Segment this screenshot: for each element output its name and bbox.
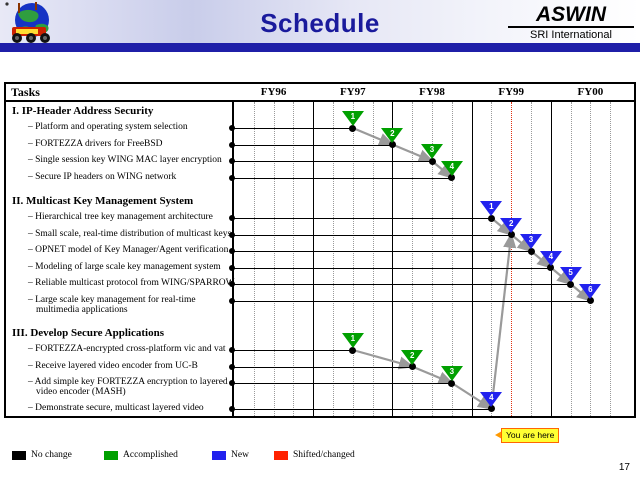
slide-header: Schedule ASWIN SRI International (0, 0, 640, 52)
milestone-marker-accomplished[interactable]: 1 (342, 333, 364, 348)
milestone-marker-accomplished[interactable]: 4 (441, 161, 463, 176)
legend-swatch (274, 451, 288, 460)
milestone-marker-accomplished[interactable]: 3 (441, 366, 463, 381)
legend-swatch (212, 451, 226, 460)
task-leader-line (233, 235, 511, 236)
milestone-marker-new[interactable]: 6 (579, 284, 601, 299)
you-are-here-callout: You are here (501, 428, 559, 443)
legend-label: Shifted/changed (293, 450, 355, 460)
milestone-marker-accomplished[interactable]: 1 (342, 111, 364, 126)
milestone-marker-accomplished[interactable]: 3 (421, 144, 443, 159)
globe-rover-icon (4, 1, 58, 45)
milestone-marker-accomplished[interactable]: 2 (401, 350, 423, 365)
milestone-number: 3 (421, 144, 443, 155)
milestone-number: 4 (441, 161, 463, 172)
milestone-number: 1 (342, 333, 364, 344)
milestone-number: 2 (500, 218, 522, 229)
page-number: 17 (619, 462, 630, 473)
task-leader-line (233, 145, 392, 146)
brand-subtitle: SRI International (508, 28, 634, 42)
fy-column-header-fy97: FY97 (316, 86, 390, 98)
legend-item-no-change: No change (12, 446, 72, 460)
fy-column-header-fy98: FY98 (395, 86, 469, 98)
fy-column-header-fy96: FY96 (237, 86, 311, 98)
chart-header-row: Tasks FY96FY97FY98FY99FY00 (6, 84, 634, 102)
milestone-marker-new[interactable]: 3 (520, 234, 542, 249)
task-leader-line (233, 350, 353, 351)
legend-item-new: New (212, 446, 249, 460)
milestone-marker-accomplished[interactable]: 2 (381, 128, 403, 143)
fy-column-header-fy99: FY99 (474, 86, 548, 98)
legend-label: New (231, 450, 249, 460)
slide: Schedule ASWIN SRI International (0, 0, 640, 480)
milestone-number: 2 (401, 350, 423, 361)
task-leader-line (233, 251, 531, 252)
milestone-marker-new[interactable]: 2 (500, 218, 522, 233)
milestone-number: 2 (381, 128, 403, 139)
task-leader-line (233, 367, 412, 368)
legend-swatch (104, 451, 118, 460)
milestone-number: 3 (441, 366, 463, 377)
task-leader-line (233, 128, 353, 129)
milestone-number: 4 (480, 392, 502, 403)
task-leader-line (233, 268, 551, 269)
legend-swatch (12, 451, 26, 460)
task-leader-line (233, 301, 590, 302)
milestone-number: 1 (342, 111, 364, 122)
tasks-column-header: Tasks (11, 85, 40, 100)
legend: No changeAccomplishedNewShifted/changed (12, 446, 412, 462)
milestone-marker-new[interactable]: 4 (480, 392, 502, 407)
header-rule (0, 43, 640, 52)
fy-column-header-fy00: FY00 (553, 86, 627, 98)
aswin-logo: ASWIN SRI International (508, 4, 634, 42)
legend-item-shifted-changed: Shifted/changed (274, 446, 355, 460)
legend-label: Accomplished (123, 450, 178, 460)
brand-name: ASWIN (508, 4, 634, 28)
milestone-number: 4 (540, 251, 562, 262)
milestone-layer: 12341234561234 (6, 102, 634, 416)
milestone-marker-new[interactable]: 4 (540, 251, 562, 266)
task-leader-line (233, 218, 491, 219)
milestone-number: 1 (480, 201, 502, 212)
milestone-number: 3 (520, 234, 542, 245)
milestone-marker-new[interactable]: 1 (480, 201, 502, 216)
milestone-marker-new[interactable]: 5 (560, 267, 582, 282)
task-leader-line (233, 178, 452, 179)
milestone-number: 5 (560, 267, 582, 278)
task-leader-line (233, 383, 452, 384)
task-leader-line (233, 161, 432, 162)
legend-label: No change (31, 450, 72, 460)
task-leader-line (233, 409, 491, 410)
legend-item-accomplished: Accomplished (104, 446, 178, 460)
milestone-number: 6 (579, 284, 601, 295)
task-leader-line (233, 284, 571, 285)
schedule-chart: Tasks FY96FY97FY98FY99FY00 I. IP-Header … (4, 82, 636, 418)
